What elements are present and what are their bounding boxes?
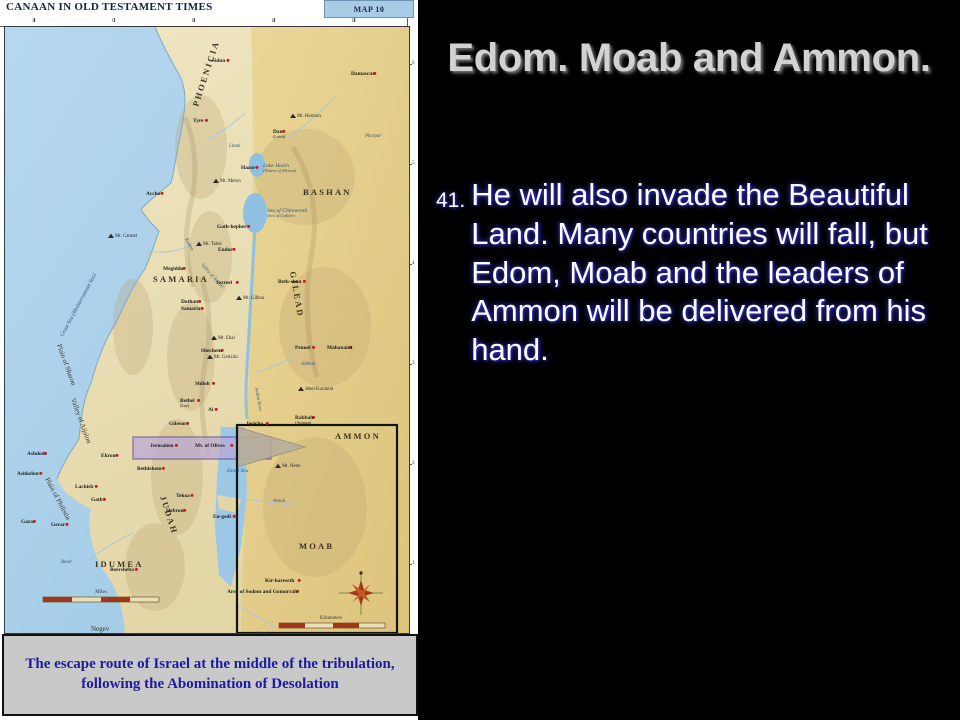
map-region-label: AMMON — [335, 431, 381, 441]
map-grid-label: D — [352, 19, 356, 24]
map-city-dot — [135, 568, 138, 571]
map-city-dot — [39, 472, 42, 475]
map-city-label: Tekoa — [176, 493, 190, 499]
map-city-label: En-gedi — [213, 514, 231, 520]
map-city-label: Jericho — [246, 421, 263, 427]
map-grid-label: 3 — [412, 361, 415, 366]
map-city-dot — [161, 192, 164, 195]
map-water-label-sub: (Sea of Galilee) — [267, 213, 295, 218]
map-city-dot — [282, 130, 285, 133]
map-city-label: Area of Sodom and Gomorrah — [227, 589, 297, 595]
verse-number: 41. — [436, 176, 471, 213]
map-city-label: Beth-shan — [278, 279, 301, 285]
map-city-dot — [95, 485, 98, 488]
map-city-dot — [162, 467, 165, 470]
map-city-label: Dothan — [181, 299, 198, 305]
map-title: CANAAN IN OLD TESTAMENT TIMES — [6, 1, 213, 13]
map-mountain-label: Jebel Kuruntul — [305, 387, 334, 392]
map-caption-box: The escape route of Israel at the middle… — [2, 634, 418, 716]
map-city-label: Gerar — [51, 522, 66, 528]
map-mountain-label: Mt. Meron — [220, 179, 241, 184]
map-city-label: Accho — [146, 191, 161, 197]
map-city-dot — [233, 248, 236, 251]
map-grid-label: E — [272, 19, 275, 24]
verse-text: He will also invade the Beautiful Land. … — [471, 176, 952, 370]
map-titlebar: CANAAN IN OLD TESTAMENT TIMES MAP 10 — [0, 0, 418, 18]
verse-line: 41. He will also invade the Beautiful La… — [436, 176, 952, 370]
presentation-slide: CANAAN IN OLD TESTAMENT TIMES MAP 10 ACB… — [0, 0, 960, 720]
map-city-dot — [236, 281, 239, 284]
map-mountain-label: Mt. Gerizim — [214, 355, 238, 360]
canaan-map-illustration: Miles Kilometers PHOENICIABASHANSAMARIAG… — [5, 27, 409, 633]
map-city-label: Jerusalem — [150, 443, 174, 449]
map-city-label: Hazor — [241, 165, 256, 171]
map-mountain-label: Mt. Ebal — [218, 336, 235, 341]
map-number-badge: MAP 10 — [324, 0, 414, 18]
map-city-dot — [198, 300, 201, 303]
svg-text:Kilometers: Kilometers — [320, 616, 342, 621]
map-city-label: Samaria — [181, 306, 201, 312]
map-grid-label: 1 — [412, 561, 415, 566]
slide-body: 41. He will also invade the Beautiful La… — [436, 176, 952, 370]
map-city-label: Gaza — [21, 519, 33, 525]
map-caption-text: The escape route of Israel at the middle… — [4, 655, 416, 695]
map-city-label-sub: (Luz) — [180, 403, 190, 408]
map-grid-label: C — [112, 19, 115, 24]
map-city-label: Ashkelon — [17, 471, 39, 477]
map-city-dot — [201, 307, 204, 310]
map-city-label: Shiloh — [195, 381, 210, 387]
map-city-label: Shechem — [201, 348, 222, 354]
map-city-label: Megiddo — [163, 266, 184, 272]
map-city-dot — [312, 346, 315, 349]
map-grid-label: B — [192, 19, 195, 24]
map-city-label: Kir-hareseth — [265, 578, 294, 584]
svg-text:Miles: Miles — [95, 590, 106, 595]
map-panel: CANAAN IN OLD TESTAMENT TIMES MAP 10 ACB… — [0, 0, 418, 720]
map-graphic: Miles Kilometers PHOENICIABASHANSAMARIAG… — [4, 26, 410, 634]
slide-title: Edom. Moab and Ammon. — [436, 36, 942, 81]
map-mountain-label: Mt. Tabor — [203, 242, 222, 247]
map-city-dot — [233, 515, 236, 518]
map-city-label: Mahanaim — [327, 345, 353, 351]
map-city-dot — [205, 119, 208, 122]
map-city-dot — [197, 399, 200, 402]
map-mountain-label: Mt. Nebo — [282, 464, 301, 469]
map-region-label: BASHAN — [303, 187, 352, 197]
map-city-dot — [103, 498, 106, 501]
map-city-dot — [116, 454, 119, 457]
map-grid-label: 6 — [412, 61, 415, 66]
map-city-label: Gath — [91, 497, 103, 503]
map-water-label: Dead Sea — [226, 468, 249, 474]
map-mountain-label: Mt. Carmel — [115, 234, 138, 239]
map-grid-label: 4 — [412, 261, 415, 266]
map-river-label: Pharpar — [364, 134, 381, 139]
map-city-label: Penuel — [295, 345, 311, 351]
map-river-label: Arnon — [272, 499, 286, 504]
map-city-dot — [175, 444, 178, 447]
map-city-label: Bethlehem — [137, 466, 162, 472]
map-city-dot — [227, 59, 230, 62]
map-city-label-sub: (Laish) — [273, 134, 286, 139]
map-river-label: Zered — [257, 632, 269, 633]
map-city-dot — [230, 444, 233, 447]
map-city-dot — [191, 494, 194, 497]
map-city-label: Sidon — [212, 58, 225, 64]
map-river-label: Litani — [228, 144, 241, 149]
map-city-label: Endor — [218, 247, 233, 253]
map-city-dot — [298, 579, 301, 582]
map-city-dot — [66, 523, 69, 526]
slide-text-panel: Edom. Moab and Ammon. 41. He will also i… — [418, 0, 960, 720]
map-city-label-sub: (Amman) — [295, 420, 312, 425]
map-city-label: Gibeon — [169, 421, 186, 427]
map-grid-label: 5 — [412, 161, 415, 166]
map-city-label: Ekron — [101, 453, 116, 459]
map-city-dot — [266, 422, 269, 425]
map-city-label: Ai — [208, 407, 214, 413]
map-city-dot — [212, 382, 215, 385]
map-city-label: Damascus — [351, 71, 374, 77]
map-city-label: Ashdod — [27, 451, 45, 457]
map-water-label-sub: (Waters of Merom) — [263, 168, 297, 173]
map-city-label: Tyre — [193, 118, 204, 124]
map-city-dot — [303, 280, 306, 283]
map-grid-label: 2 — [412, 461, 415, 466]
map-river-label: Jabbok — [301, 362, 316, 367]
map-city-label: Hebron — [166, 508, 184, 514]
map-city-dot — [256, 166, 259, 169]
map-grid-label: A — [32, 19, 36, 24]
map-city-label: Mt. of Olives — [195, 443, 225, 449]
map-city-dot — [215, 408, 218, 411]
map-region-label: Negev — [91, 625, 110, 633]
map-number-label: MAP 10 — [354, 5, 385, 14]
map-city-dot — [247, 225, 250, 228]
map-city-label: Gath-hepher — [217, 224, 247, 230]
map-region-label: MOAB — [299, 541, 334, 551]
map-city-label: Beersheba — [110, 567, 134, 573]
map-mountain-label: Mt. Hermon — [297, 114, 321, 119]
map-region-label: SAMARIA — [153, 274, 209, 284]
map-mountain-label: Mt. Gilboa — [243, 296, 265, 301]
map-city-dot — [33, 520, 36, 523]
map-river-label: Besor — [61, 560, 72, 565]
map-city-dot — [186, 422, 189, 425]
map-city-label: Lachish — [75, 484, 93, 490]
